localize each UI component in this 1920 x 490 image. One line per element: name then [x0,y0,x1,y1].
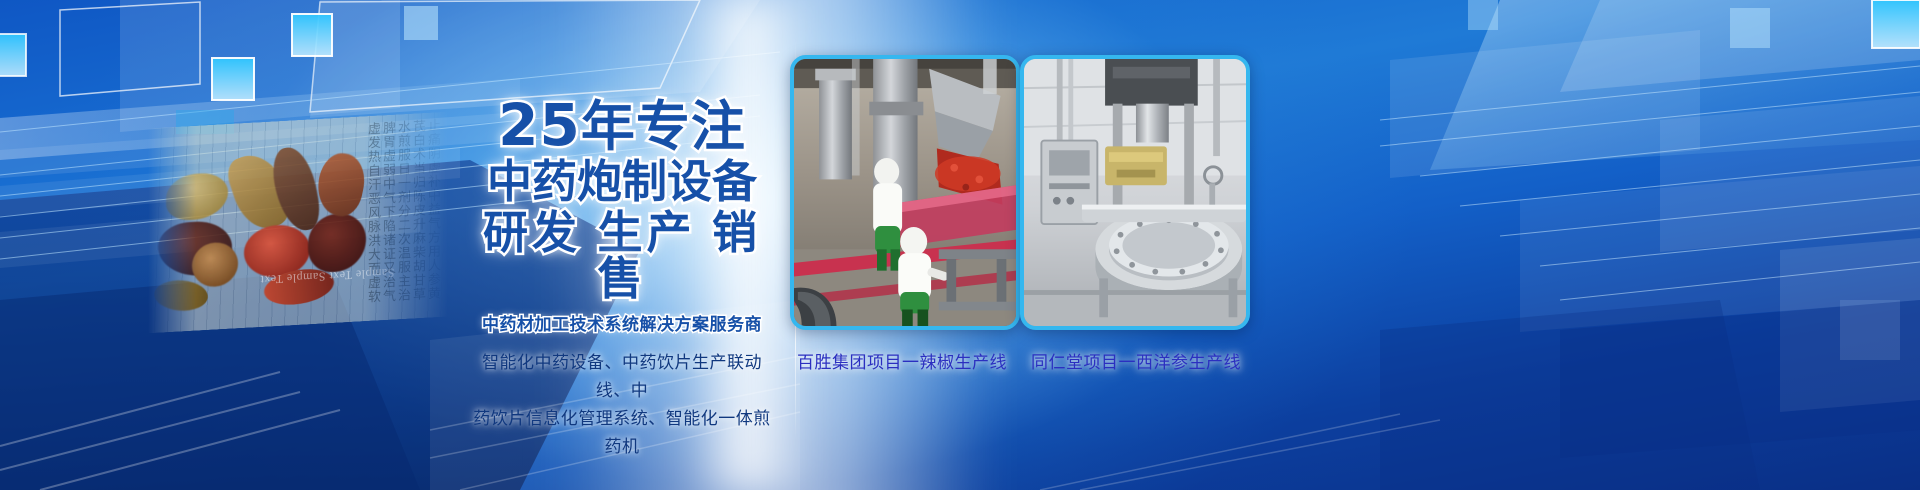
headline-line-1: 25年专注 [466,96,778,155]
headline-years-number: 25 [498,91,581,159]
headline-years-suffix: 年专注 [581,97,746,157]
headline-subline: 中药材加工技术系统解决方案服务商 [466,310,778,335]
project-photo-ginseng-line [1020,55,1250,330]
headline-line-3: 研发 生产 销售 [466,210,778,302]
description-paragraph: 智能化中药设备、中药饮片生产联动线、中 药饮片信息化管理系统、智能化一体煎药机 [466,349,778,461]
project-card-tongrentang[interactable]: 同仁堂项目一西洋参生产线 [1020,55,1250,373]
herb-texture-panel: 止痛阴虚补中益气方用人参黄芪白术当归陈皮升麻柴胡甘草水煎服日一剂分二次温服主治脾… [148,112,448,334]
project-photo-cards: 百胜集团项目一辣椒生产线 [790,55,1490,455]
project-card-caption: 同仁堂项目一西洋参生产线 [1022,348,1250,373]
promo-banner: 止痛阴虚补中益气方用人参黄芪白术当归陈皮升麻柴胡甘草水煎服日一剂分二次温服主治脾… [0,0,1920,490]
description-line-2: 药饮片信息化管理系统、智能化一体煎药机 [466,405,778,461]
headline-line-2: 中药炮制设备 [466,159,778,205]
project-card-caption: 百胜集团项目一辣椒生产线 [784,348,1020,373]
description-line-1: 智能化中药设备、中药饮片生产联动线、中 [466,349,778,405]
project-photo-chili-line [790,55,1020,330]
headline-block: 25年专注 中药炮制设备 研发 生产 销售 中药材加工技术系统解决方案服务商 智… [466,96,778,461]
project-card-baisheng[interactable]: 百胜集团项目一辣椒生产线 [790,55,1020,373]
